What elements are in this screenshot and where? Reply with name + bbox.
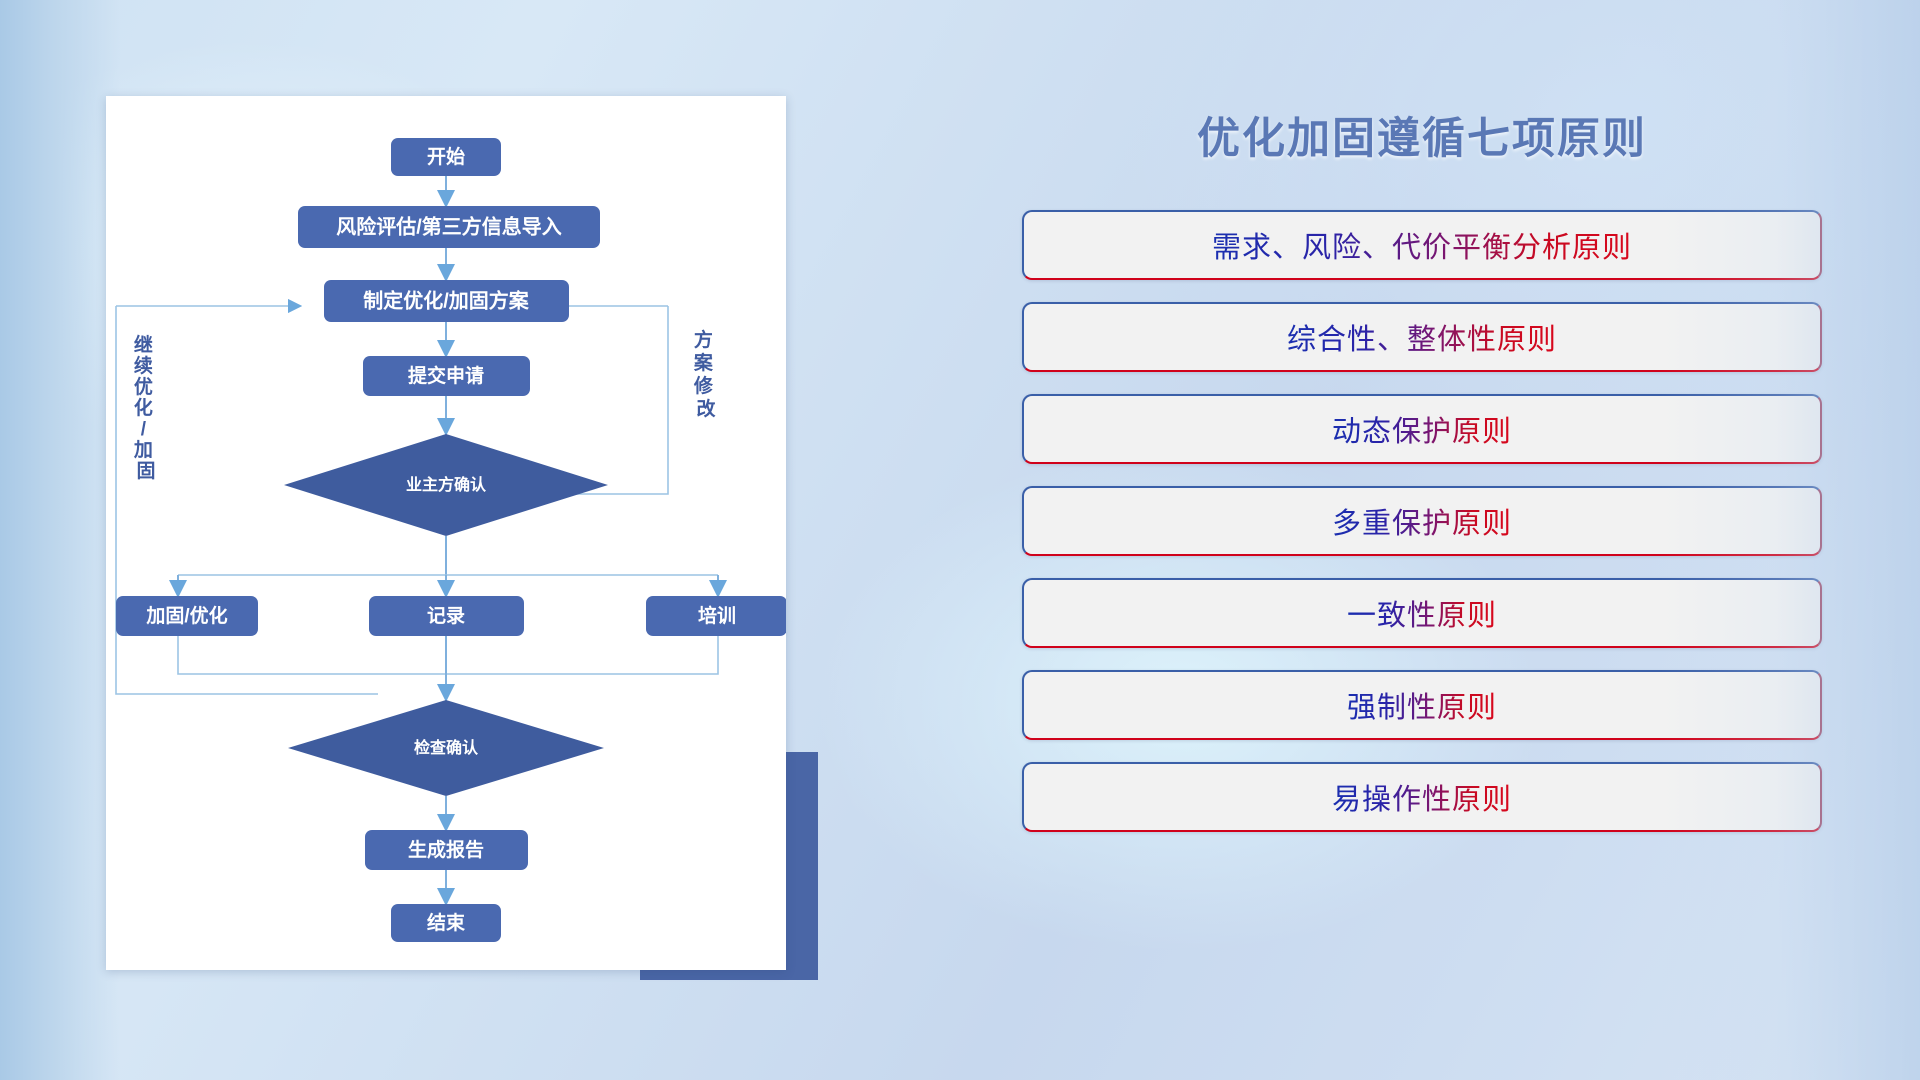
node-start[interactable]: 开始: [391, 138, 501, 176]
node-risk-assessment-label: 风险评估/第三方信息导入: [336, 214, 562, 238]
node-submit-application[interactable]: 提交申请: [363, 356, 530, 396]
principles-list: 需求、风险、代价平衡分析原则 综合性、整体性原则 动态保护原则 多重保护原则 一…: [1022, 210, 1822, 832]
node-start-label: 开始: [427, 145, 465, 168]
principle-card-4[interactable]: 多重保护原则: [1022, 486, 1822, 556]
edge-label-continue-optimize: 继 续 优 化 / 加 固: [133, 333, 158, 482]
flowchart-diagram: 开始 风险评估/第三方信息导入 制定优化/加固方案 提交申请 业主方确认: [106, 96, 786, 970]
node-training-label: 培训: [698, 604, 736, 627]
edge-owner-to-plan-right-return: [546, 306, 668, 494]
principle-label-3: 动态保护原则: [1332, 408, 1512, 450]
principle-card-7[interactable]: 易操作性原则: [1022, 762, 1822, 832]
principle-label-2: 综合性、整体性原则: [1287, 316, 1557, 358]
principle-card-3[interactable]: 动态保护原则: [1022, 394, 1822, 464]
node-training[interactable]: 培训: [646, 596, 786, 636]
principle-label-7: 易操作性原则: [1332, 776, 1512, 818]
node-owner-confirm-label: 业主方确认: [406, 475, 487, 494]
flowchart-card: 开始 风险评估/第三方信息导入 制定优化/加固方案 提交申请 业主方确认: [106, 96, 786, 970]
node-generate-report[interactable]: 生成报告: [365, 830, 528, 870]
principle-label-5: 一致性原则: [1347, 592, 1497, 634]
node-risk-assessment[interactable]: 风险评估/第三方信息导入: [298, 206, 600, 248]
node-submit-application-label: 提交申请: [408, 364, 484, 387]
edge-merge-bus: [178, 636, 718, 674]
edge-label-plan-revision: 方 案 修 改: [693, 328, 718, 420]
principle-card-1[interactable]: 需求、风险、代价平衡分析原则: [1022, 210, 1822, 280]
principle-label-4: 多重保护原则: [1332, 500, 1512, 542]
node-make-plan[interactable]: 制定优化/加固方案: [324, 280, 569, 322]
principles-panel: 优化加固遵循七项原则 需求、风险、代价平衡分析原则 综合性、整体性原则 动态保护…: [1022, 104, 1822, 1004]
principle-card-2[interactable]: 综合性、整体性原则: [1022, 302, 1822, 372]
node-end-label: 结束: [427, 911, 466, 934]
node-check-confirm[interactable]: 检查确认: [288, 700, 604, 796]
node-record-label: 记录: [427, 605, 465, 627]
principle-card-5[interactable]: 一致性原则: [1022, 578, 1822, 648]
principle-card-6[interactable]: 强制性原则: [1022, 670, 1822, 740]
node-reinforce-optimize-label: 加固/优化: [145, 604, 227, 627]
node-check-confirm-label: 检查确认: [414, 738, 479, 757]
node-generate-report-label: 生成报告: [408, 838, 484, 861]
node-reinforce-optimize[interactable]: 加固/优化: [116, 596, 258, 636]
principles-title: 优化加固遵循七项原则: [1022, 104, 1822, 166]
principle-label-1: 需求、风险、代价平衡分析原则: [1212, 224, 1632, 266]
node-end[interactable]: 结束: [391, 904, 501, 942]
node-make-plan-label: 制定优化/加固方案: [363, 288, 530, 312]
node-owner-confirm[interactable]: 业主方确认: [284, 434, 608, 536]
principle-label-6: 强制性原则: [1347, 684, 1497, 726]
slide-canvas: 开始 风险评估/第三方信息导入 制定优化/加固方案 提交申请 业主方确认: [0, 0, 1920, 1080]
node-record[interactable]: 记录: [369, 596, 524, 636]
